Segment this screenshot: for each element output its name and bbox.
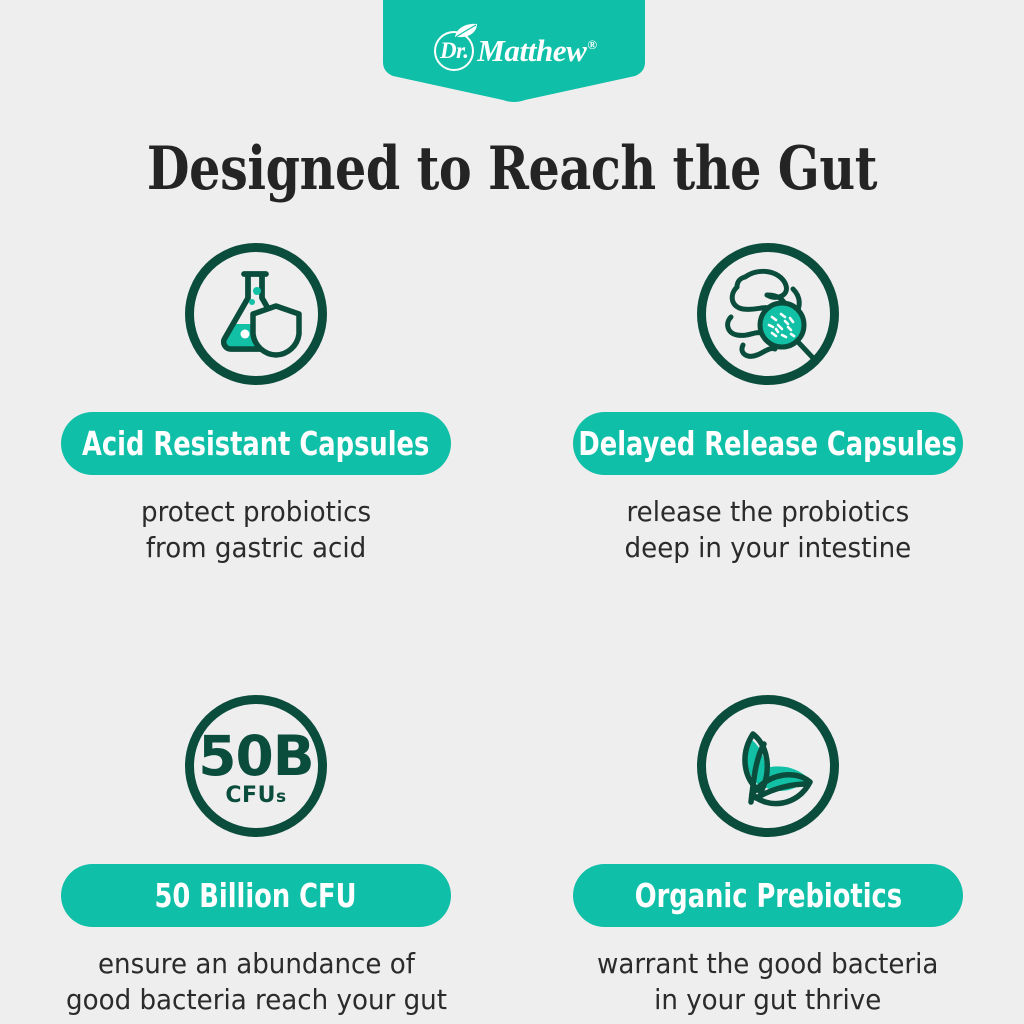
feature-pill-organic-prebiotics[interactable]: Organic Prebiotics	[573, 864, 963, 927]
cfu-number: 50B	[198, 730, 313, 784]
infographic-page: Dr. Matthew® Designed to Reach the Gut	[0, 0, 1024, 1024]
feature-pill-delayed-release[interactable]: Delayed Release Capsules	[573, 412, 963, 475]
feature-description: protect probiotics from gastric acid	[141, 494, 371, 567]
desc-line-2: from gastric acid	[141, 530, 371, 566]
feature-row-top: Acid Resistant Capsules protect probioti…	[0, 243, 1024, 567]
feature-card-delayed-release: Delayed Release Capsules release the pro…	[512, 243, 1024, 567]
brand-banner: Dr. Matthew®	[383, 0, 645, 104]
desc-line-1: release the probiotics	[625, 494, 912, 530]
leaf-icon	[453, 23, 479, 39]
flask-shield-icon	[185, 243, 327, 385]
desc-line-1: warrant the good bacteria	[597, 946, 938, 982]
desc-line-2: good bacteria reach your gut	[66, 982, 447, 1018]
desc-line-1: ensure an abundance of	[66, 946, 447, 982]
desc-line-2: in your gut thrive	[597, 982, 938, 1018]
cfu-caption-suffix: s	[276, 787, 287, 807]
trademark-symbol: ®	[587, 37, 596, 52]
brand-name: Matthew®	[477, 35, 596, 66]
feature-description: release the probiotics deep in your inte…	[625, 494, 912, 567]
intestine-magnifier-bacteria-icon	[697, 243, 839, 385]
feature-pill-cfu[interactable]: 50 Billion CFU	[61, 864, 451, 927]
brand-logo: Dr. Matthew®	[383, 26, 645, 74]
feature-pill-label: Acid Resistant Capsules	[82, 427, 429, 460]
brand-name-text: Matthew	[477, 33, 586, 68]
feature-pill-label: Organic Prebiotics	[634, 879, 901, 912]
feature-pill-acid-resistant[interactable]: Acid Resistant Capsules	[61, 412, 451, 475]
brand-mark: Dr.	[431, 25, 481, 75]
desc-line-2: deep in your intestine	[625, 530, 912, 566]
cfu-caption: CFUs	[225, 785, 286, 807]
feature-card-organic-prebiotics: Organic Prebiotics warrant the good bact…	[512, 695, 1024, 1019]
page-title: Designed to Reach the Gut	[92, 139, 932, 199]
feature-card-acid-resistant: Acid Resistant Capsules protect probioti…	[0, 243, 512, 567]
feature-description: ensure an abundance of good bacteria rea…	[66, 946, 447, 1019]
cfu-count-icon: 50B CFUs	[185, 695, 327, 837]
feature-grid: Acid Resistant Capsules protect probioti…	[0, 243, 1024, 1018]
feature-pill-label: Delayed Release Capsules	[579, 427, 957, 460]
leaves-icon	[697, 695, 839, 837]
feature-card-cfu: 50B CFUs 50 Billion CFU ensure an abunda…	[0, 695, 512, 1019]
feature-row-bottom: 50B CFUs 50 Billion CFU ensure an abunda…	[0, 695, 1024, 1019]
desc-line-1: protect probiotics	[141, 494, 371, 530]
feature-pill-label: 50 Billion CFU	[155, 879, 357, 912]
feature-description: warrant the good bacteria in your gut th…	[597, 946, 938, 1019]
cfu-caption-text: CFU	[225, 783, 276, 808]
